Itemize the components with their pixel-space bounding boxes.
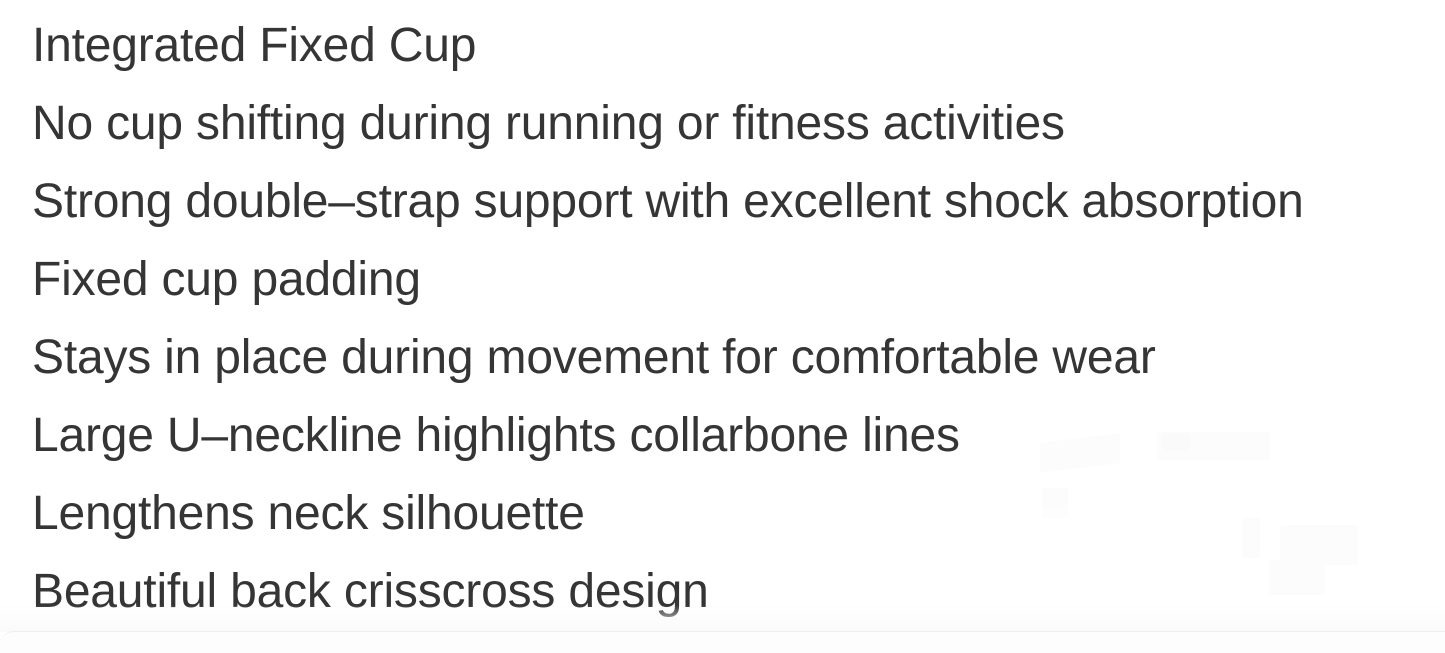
feature-list-item: No cup shifting during running or fitnes… (0, 85, 1445, 163)
feature-list-item: Large U–neckline highlights collarbone l… (0, 397, 1445, 475)
feature-list-item: Lengthens neck silhouette (0, 475, 1445, 553)
feature-list-item: Fixed cup padding (0, 241, 1445, 319)
feature-list: Integrated Fixed Cup No cup shifting dur… (0, 0, 1445, 631)
bottom-card-edge (0, 631, 1445, 653)
feature-list-item: Strong double–strap support with excelle… (0, 163, 1445, 241)
feature-list-item: Stays in place during movement for comfo… (0, 319, 1445, 397)
feature-list-item: Beautiful back crisscross design (0, 553, 1445, 631)
feature-list-item: Integrated Fixed Cup (0, 7, 1445, 85)
product-feature-panel: Integrated Fixed Cup No cup shifting dur… (0, 0, 1445, 653)
